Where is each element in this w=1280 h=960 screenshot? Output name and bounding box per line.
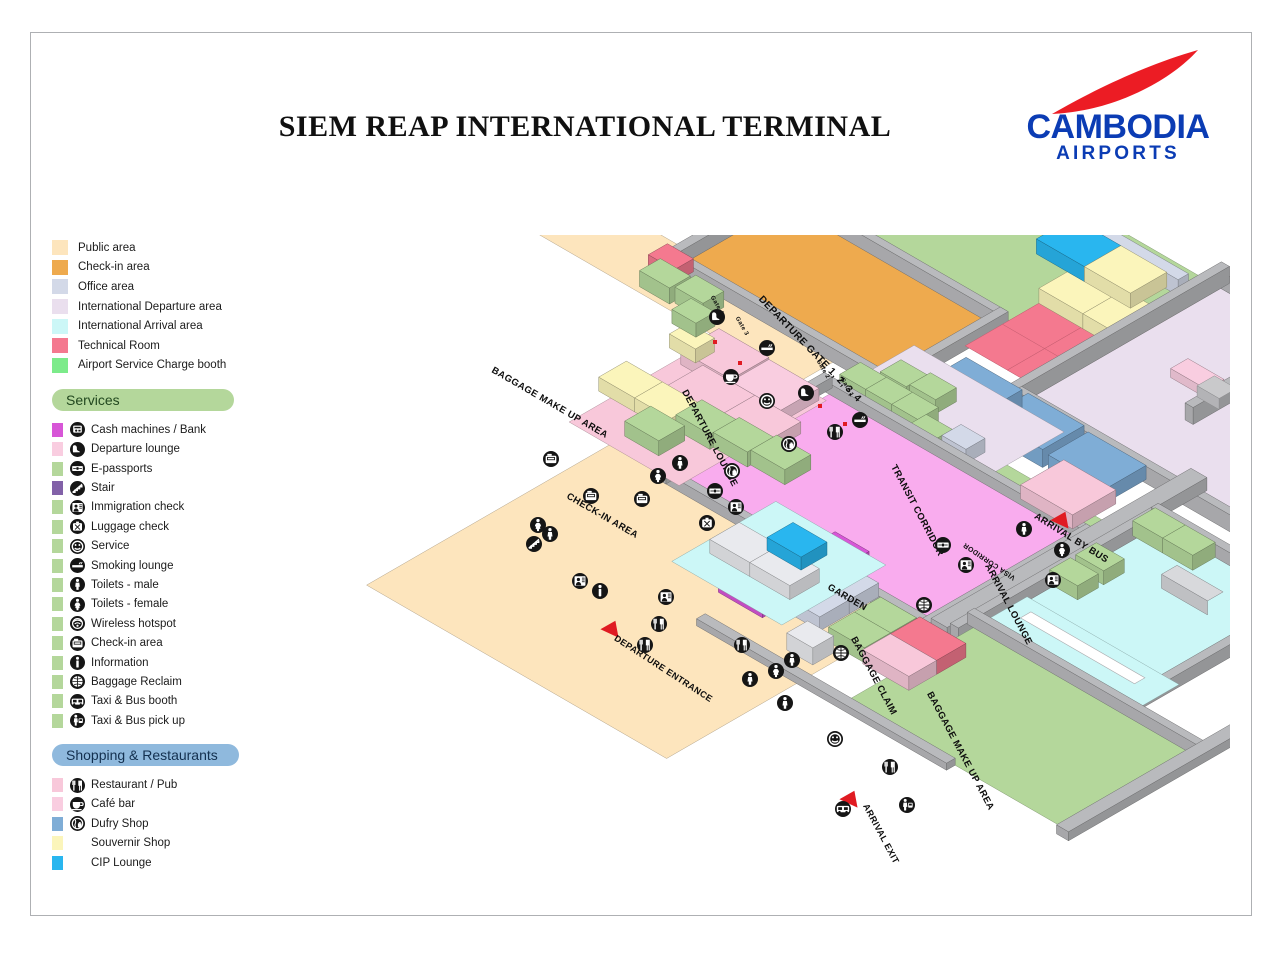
page-title: SIEM REAP INTERNATIONAL TERMINAL	[190, 110, 980, 144]
service-legend-label: Service	[91, 540, 129, 552]
service-legend-item: Souvernir Shop	[52, 834, 292, 853]
area-legend-label: Check-in area	[78, 261, 150, 273]
taxi-bus-booth-icon	[70, 694, 85, 709]
service-legend-item: Service	[52, 537, 292, 556]
map-marker-baggage-reclaim-2[interactable]	[833, 645, 849, 661]
shopping-legend-list: Restaurant / PubCafé barDufry ShopSouver…	[52, 775, 292, 872]
service-legend-label: Check-in area	[91, 637, 163, 649]
service-legend-swatch	[52, 856, 63, 870]
service-legend-item: Wireless hotspot	[52, 614, 292, 633]
shopping-section-header: Shopping & Restaurants	[52, 744, 239, 766]
service-legend-item: E-passports	[52, 459, 292, 478]
services-section-title: Services	[66, 392, 120, 408]
service-legend-swatch	[52, 597, 63, 611]
cash-machine-icon	[70, 422, 85, 437]
service-legend-item: Taxi & Bus pick up	[52, 711, 292, 730]
map-marker-restaurant-1[interactable]	[651, 616, 667, 632]
service-legend-label: Cash machines / Bank	[91, 424, 206, 436]
services-legend-list: Cash machines / BankDeparture loungeE-pa…	[52, 420, 292, 730]
area-legend-item: Office area	[52, 277, 292, 297]
stair-icon	[70, 481, 85, 496]
area-legend-label: Airport Service Charge booth	[78, 359, 226, 371]
terminal-map-svg	[280, 235, 1230, 855]
luggage-check-icon	[70, 519, 85, 534]
service-legend-label: Information	[91, 657, 149, 669]
service-legend-swatch	[52, 694, 63, 708]
service-legend-swatch	[52, 656, 63, 670]
service-legend-swatch	[52, 539, 63, 553]
service-legend-item: Immigration check	[52, 498, 292, 517]
service-legend-swatch	[52, 520, 63, 534]
map-marker-toilet-female-arrival[interactable]	[1054, 542, 1070, 558]
service-legend-swatch	[52, 481, 63, 495]
service-legend-swatch	[52, 578, 63, 592]
cambodia-airports-logo: CAMBODIA AIRPORTS	[1012, 48, 1224, 163]
service-legend-label: Taxi & Bus booth	[91, 695, 177, 707]
map-marker-smoking-garden[interactable]	[852, 412, 868, 428]
service-legend-swatch	[52, 423, 63, 437]
map-marker-check-in-3[interactable]	[634, 491, 650, 507]
dufry-shop-icon	[70, 816, 85, 831]
service-legend-swatch	[52, 559, 63, 573]
map-marker-immigration-visa[interactable]	[1045, 572, 1061, 588]
map-marker-luggage-check-1[interactable]	[699, 515, 715, 531]
service-legend-item: Restaurant / Pub	[52, 775, 292, 794]
information-icon	[70, 655, 85, 670]
map-marker-toilet-male-checkin[interactable]	[542, 526, 558, 542]
logo-text-airports: AIRPORTS	[1012, 144, 1224, 163]
area-legend-item: Technical Room	[52, 336, 292, 356]
service-legend-item: CIP Lounge	[52, 853, 292, 872]
map-marker-service[interactable]	[759, 393, 775, 409]
area-legend-item: International Departure area	[52, 297, 292, 317]
service-legend-item: Cash machines / Bank	[52, 420, 292, 439]
map-marker-toilet-female-dep[interactable]	[650, 468, 666, 484]
area-legend-item: Public area	[52, 238, 292, 258]
map-marker-toilet-male-2[interactable]	[742, 671, 758, 687]
gate-tick-marker-2	[818, 404, 822, 408]
area-legend-swatch	[52, 279, 68, 294]
area-legend-label: International Arrival area	[78, 320, 203, 332]
gate-tick-marker-1	[843, 422, 847, 426]
map-marker-baggage-reclaim-1[interactable]	[916, 597, 932, 613]
map-marker-restaurant-2[interactable]	[637, 637, 653, 653]
service-legend-label: Dufry Shop	[91, 818, 149, 830]
service-legend-item: Check-in area	[52, 633, 292, 652]
service-legend-label: Immigration check	[91, 501, 184, 513]
map-marker-toilet-female-2[interactable]	[768, 663, 784, 679]
area-legend-label: Public area	[78, 242, 136, 254]
map-marker-taxi-bus-pickup[interactable]	[899, 797, 915, 813]
map-marker-immigration-entrance[interactable]	[572, 573, 588, 589]
area-legend-swatch	[52, 358, 68, 373]
area-legend-label: Office area	[78, 281, 134, 293]
service-legend-label: Departure lounge	[91, 443, 180, 455]
restaurant-icon	[70, 778, 85, 793]
service-smiley-icon	[70, 539, 85, 554]
airport-terminal-map-page: SIEM REAP INTERNATIONAL TERMINAL CAMBODI…	[0, 0, 1280, 960]
map-marker-immigration-1[interactable]	[728, 499, 744, 515]
service-legend-swatch	[52, 817, 63, 831]
service-legend-item: Taxi & Bus booth	[52, 692, 292, 711]
area-legend-swatch	[52, 338, 68, 353]
map-marker-toilet-male-3[interactable]	[784, 652, 800, 668]
area-legend-item: Airport Service Charge booth	[52, 356, 292, 376]
service-legend-item: Dufry Shop	[52, 814, 292, 833]
map-marker-restaurant-3[interactable]	[734, 637, 750, 653]
logo-text-cambodia: CAMBODIA	[1012, 110, 1224, 144]
service-legend-swatch	[52, 442, 63, 456]
service-legend-label: Smoking lounge	[91, 560, 173, 572]
map-marker-taxi-bus-booth[interactable]	[835, 801, 851, 817]
gate-tick-marker-3	[738, 361, 742, 365]
area-legend-label: Technical Room	[78, 340, 160, 352]
service-legend-item: Toilets - male	[52, 575, 292, 594]
service-legend-item: Café bar	[52, 795, 292, 814]
map-marker-stair-checkin[interactable]	[526, 536, 542, 552]
area-legend-swatch	[52, 299, 68, 314]
area-legend-swatch	[52, 240, 68, 255]
area-legend-swatch	[52, 260, 68, 275]
service-legend-label: E-passports	[91, 463, 152, 475]
wireless-hotspot-icon	[70, 616, 85, 631]
area-legend-list: Public areaCheck-in areaOffice areaInter…	[52, 238, 292, 375]
map-marker-check-in-2[interactable]	[583, 488, 599, 504]
area-legend-item: Check-in area	[52, 258, 292, 278]
map-marker-restaurant-4[interactable]	[882, 759, 898, 775]
services-section-header: Services	[52, 389, 234, 411]
map-marker-smoking-lounge[interactable]	[759, 340, 775, 356]
service-legend-item: Departure lounge	[52, 440, 292, 459]
map-marker-information[interactable]	[592, 583, 608, 599]
service-legend-item: Information	[52, 653, 292, 672]
service-legend-label: Luggage check	[91, 521, 169, 533]
gate-tick-marker-4	[713, 340, 717, 344]
service-legend-label: Café bar	[91, 798, 135, 810]
service-legend-swatch	[52, 636, 63, 650]
map-marker-toilet-male-arrival[interactable]	[1016, 521, 1032, 537]
shopping-section-title: Shopping & Restaurants	[66, 747, 218, 763]
e-passport-icon	[70, 461, 85, 476]
service-legend-label: Toilets - female	[91, 598, 168, 610]
service-legend-label: Wireless hotspot	[91, 618, 176, 630]
service-legend-item: Stair	[52, 478, 292, 497]
map-marker-service-2[interactable]	[827, 731, 843, 747]
area-legend-label: International Departure area	[78, 301, 222, 313]
service-legend-label: CIP Lounge	[91, 857, 152, 869]
map-marker-toilet-male-dep[interactable]	[672, 455, 688, 471]
service-legend-label: Souvernir Shop	[91, 837, 170, 849]
no-icon	[70, 836, 85, 851]
service-legend-swatch	[52, 675, 63, 689]
apron-left-public-area	[280, 235, 447, 346]
map-marker-toilet-male-4[interactable]	[777, 695, 793, 711]
area-legend-item: International Arrival area	[52, 316, 292, 336]
legend-panel: Public areaCheck-in areaOffice areaInter…	[52, 238, 292, 872]
map-marker-dufry-shop-2[interactable]	[781, 436, 797, 452]
map-marker-departure-lounge-2[interactable]	[798, 385, 814, 401]
service-legend-label: Baggage Reclaim	[91, 676, 182, 688]
service-legend-swatch	[52, 836, 63, 850]
service-legend-item: Baggage Reclaim	[52, 672, 292, 691]
toilet-female-icon	[70, 597, 85, 612]
area-legend-swatch	[52, 319, 68, 334]
departure-lounge-icon	[70, 442, 85, 457]
smoking-lounge-icon	[70, 558, 85, 573]
service-legend-swatch	[52, 462, 63, 476]
cafe-bar-icon	[70, 797, 85, 812]
map-marker-immigration-3[interactable]	[958, 557, 974, 573]
map-marker-dufry-shop-1[interactable]	[724, 463, 740, 479]
service-legend-label: Stair	[91, 482, 115, 494]
service-legend-item: Smoking lounge	[52, 556, 292, 575]
service-legend-label: Taxi & Bus pick up	[91, 715, 185, 727]
terminal-floor-map[interactable]: BAGGAGE MAKE UP AREACHECK-IN AREADEPARTU…	[280, 235, 1230, 855]
no-icon	[70, 855, 85, 870]
taxi-bus-pickup-icon	[70, 713, 85, 728]
map-marker-cafe-bar[interactable]	[723, 369, 739, 385]
check-in-desk-icon	[70, 636, 85, 651]
immigration-check-icon	[70, 500, 85, 515]
map-marker-departure-lounge[interactable]	[709, 309, 725, 325]
map-marker-e-passport-1[interactable]	[707, 483, 723, 499]
baggage-reclaim-icon	[70, 674, 85, 689]
service-legend-label: Restaurant / Pub	[91, 779, 177, 791]
service-legend-item: Toilets - female	[52, 595, 292, 614]
map-marker-restaurant-garden[interactable]	[827, 424, 843, 440]
toilet-male-icon	[70, 577, 85, 592]
service-legend-swatch	[52, 778, 63, 792]
map-marker-check-in-1[interactable]	[543, 451, 559, 467]
map-marker-immigration-2[interactable]	[658, 589, 674, 605]
map-marker-e-passport-2[interactable]	[935, 537, 951, 553]
service-legend-swatch	[52, 500, 63, 514]
service-legend-swatch	[52, 714, 63, 728]
service-legend-item: Luggage check	[52, 517, 292, 536]
service-legend-label: Toilets - male	[91, 579, 159, 591]
service-legend-swatch	[52, 617, 63, 631]
service-legend-swatch	[52, 797, 63, 811]
